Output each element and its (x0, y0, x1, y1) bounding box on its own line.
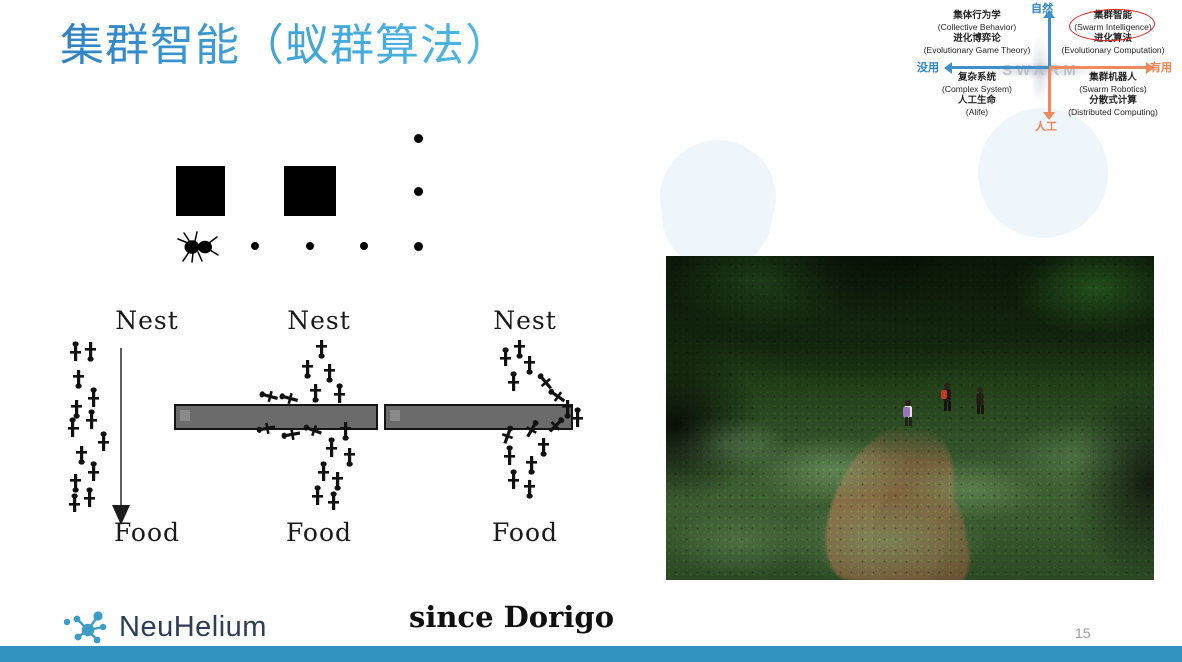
nest-label: Nest (234, 306, 404, 335)
trail-square (284, 166, 336, 216)
food-label: Food (62, 518, 232, 547)
quadrant-term-en: (Alife) (914, 107, 1040, 119)
quadrant-bottom-right: 集群机器人 (Swarm Robotics) 分散式计算 (Distribute… (1050, 72, 1176, 118)
quadrant-term-en: (Evolutionary Game Theory) (914, 45, 1040, 57)
molecule-network-icon (64, 610, 112, 646)
quadrant-term-en: (Distributed Computing) (1050, 107, 1176, 119)
quadrant-term-en: (Swarm Robotics) (1050, 84, 1176, 96)
quadrant-term-cn: 人工生命 (914, 95, 1040, 107)
nest-label: Nest (62, 306, 232, 335)
neuhelium-logo: NeuHelium (64, 606, 284, 650)
pheromone-dot (251, 242, 259, 250)
quadrant-term-cn: 进化博弈论 (914, 33, 1040, 45)
quadrant-term-cn: 集群机器人 (1050, 72, 1176, 84)
pheromone-dot (414, 134, 423, 143)
axis-horizontal-left (952, 66, 1049, 69)
trail-square (176, 166, 225, 216)
background-blob-decoration (662, 160, 772, 270)
pheromone-dot (360, 242, 368, 250)
jungle-trail-photo (666, 256, 1154, 580)
quadrant-bottom-left: 复杂系统 (Complex System) 人工生命 (Alife) (914, 72, 1040, 118)
nest-label: Nest (440, 306, 610, 335)
quadrant-term-en: (Evolutionary Computation) (1050, 45, 1176, 57)
quadrant-top-left: 集体行为学 (Collective Behavior) 进化博弈论 (Evolu… (914, 10, 1040, 56)
ant-cluster (68, 340, 122, 515)
ant-cluster (466, 338, 596, 518)
quadrant-term-cn: 集体行为学 (914, 10, 1040, 22)
background-blob-decoration (1000, 130, 1096, 226)
slide-canvas: 集群智能（蚁群算法） SWARM 自然 人工 没用 有用 集体行为学 (Coll… (0, 0, 1182, 662)
pheromone-dot (306, 242, 314, 250)
logo-wordmark: NeuHelium (119, 611, 267, 644)
bottom-accent-bar (0, 646, 1182, 662)
food-label: Food (234, 518, 404, 547)
quadrant-term-en: (Complex System) (914, 84, 1040, 96)
page-number: 15 (1075, 625, 1091, 641)
pheromone-dot (414, 242, 423, 251)
quadrant-term-en: (Collective Behavior) (914, 22, 1040, 34)
nest-food-panel: Nest Food (440, 300, 610, 565)
axis-horizontal-right (1049, 66, 1146, 69)
nest-food-panel: Nest Food (62, 300, 232, 565)
ant-cluster (252, 338, 392, 518)
axis-label-artificial: 人工 (1035, 118, 1057, 134)
figure-caption: since Dorigo (409, 600, 614, 634)
pheromone-trail-figure (150, 118, 450, 270)
quadrant-term-cn: 分散式计算 (1050, 95, 1176, 107)
nest-food-figure: Nest Food (62, 300, 582, 565)
ant-icon (176, 228, 220, 264)
pheromone-dot (414, 187, 423, 196)
photo-vignette (666, 256, 1154, 580)
food-label: Food (440, 518, 610, 547)
nest-food-panel: Nest Food (234, 300, 404, 565)
quadrant-term-cn: 复杂系统 (914, 72, 1040, 84)
page-title: 集群智能（蚁群算法） (60, 16, 510, 76)
